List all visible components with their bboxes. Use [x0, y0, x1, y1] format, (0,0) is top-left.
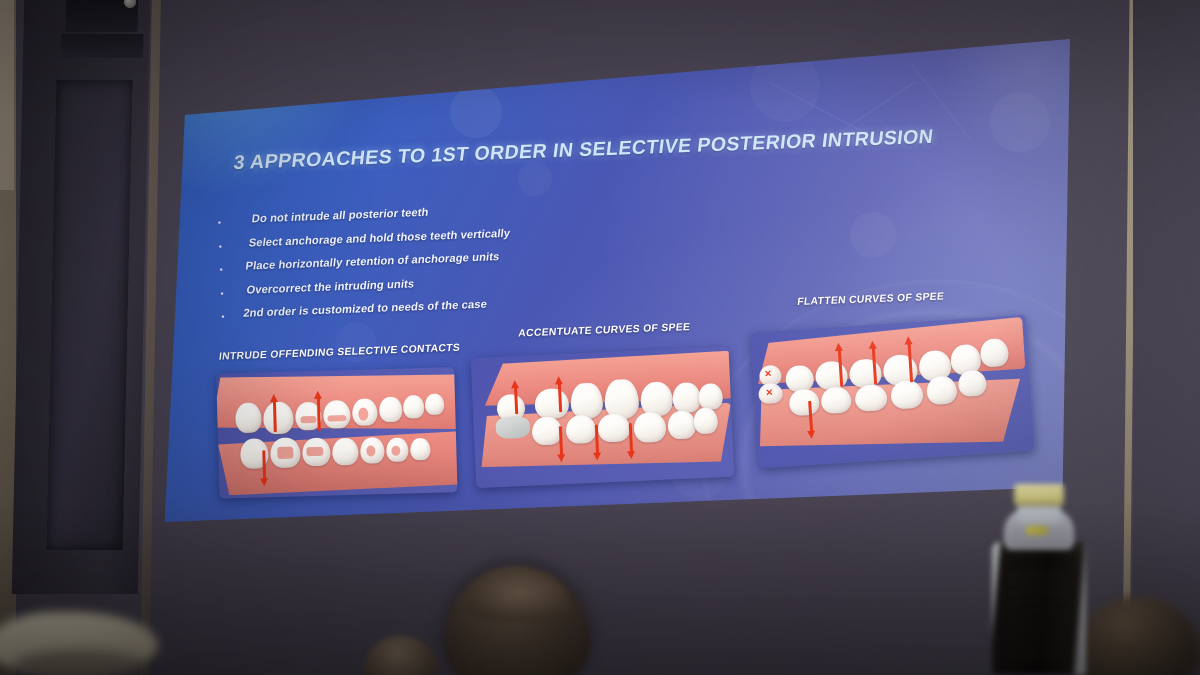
scene-vignette [0, 0, 1200, 675]
photo-scene: 3 APPROACHES TO 1ST ORDER IN SELECTIVE P… [0, 0, 1200, 675]
